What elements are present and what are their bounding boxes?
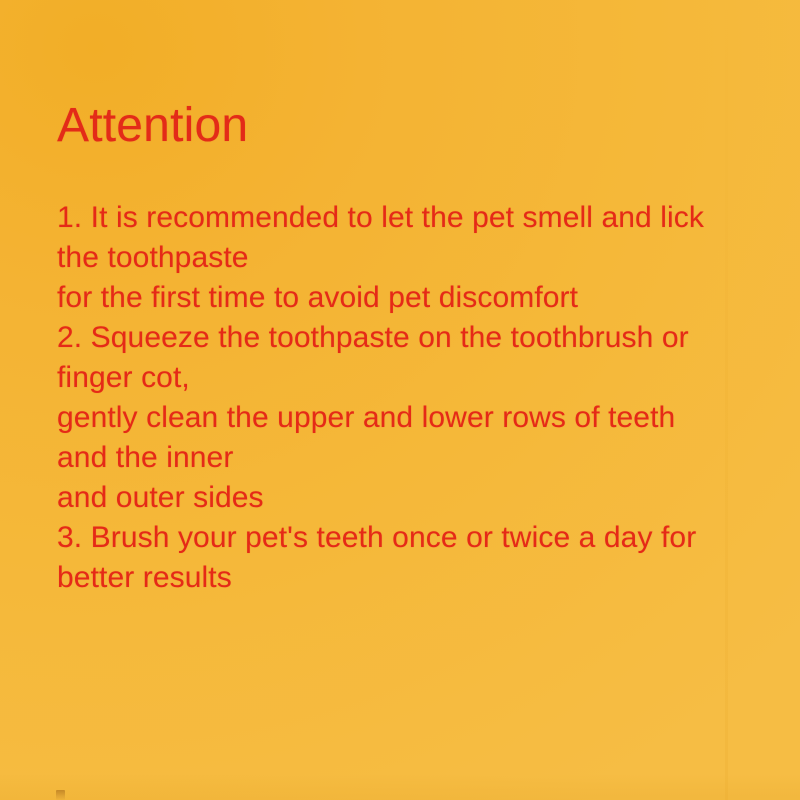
notice-line: 2. Squeeze the toothpaste on the toothbr… xyxy=(57,318,757,358)
notice-line: the toothpaste xyxy=(57,238,757,278)
notice-line: for the first time to avoid pet discomfo… xyxy=(57,278,757,318)
attention-notice-card: Attention 1. It is recommended to let th… xyxy=(0,0,800,800)
notice-line: gently clean the upper and lower rows of… xyxy=(57,398,757,438)
bottom-edge-glyph-artifact xyxy=(56,790,65,800)
notice-line: 1. It is recommended to let the pet smel… xyxy=(57,198,757,238)
notice-line: finger cot, xyxy=(57,358,757,398)
notice-text-block: Attention 1. It is recommended to let th… xyxy=(57,100,757,598)
notice-line: and outer sides xyxy=(57,478,757,518)
notice-line: better results xyxy=(57,558,757,598)
notice-instruction-list: 1. It is recommended to let the pet smel… xyxy=(57,198,757,598)
print-banding-artifact-bottom xyxy=(0,774,800,800)
notice-line: and the inner xyxy=(57,438,757,478)
notice-line: 3. Brush your pet's teeth once or twice … xyxy=(57,518,757,558)
notice-heading: Attention xyxy=(57,100,757,152)
